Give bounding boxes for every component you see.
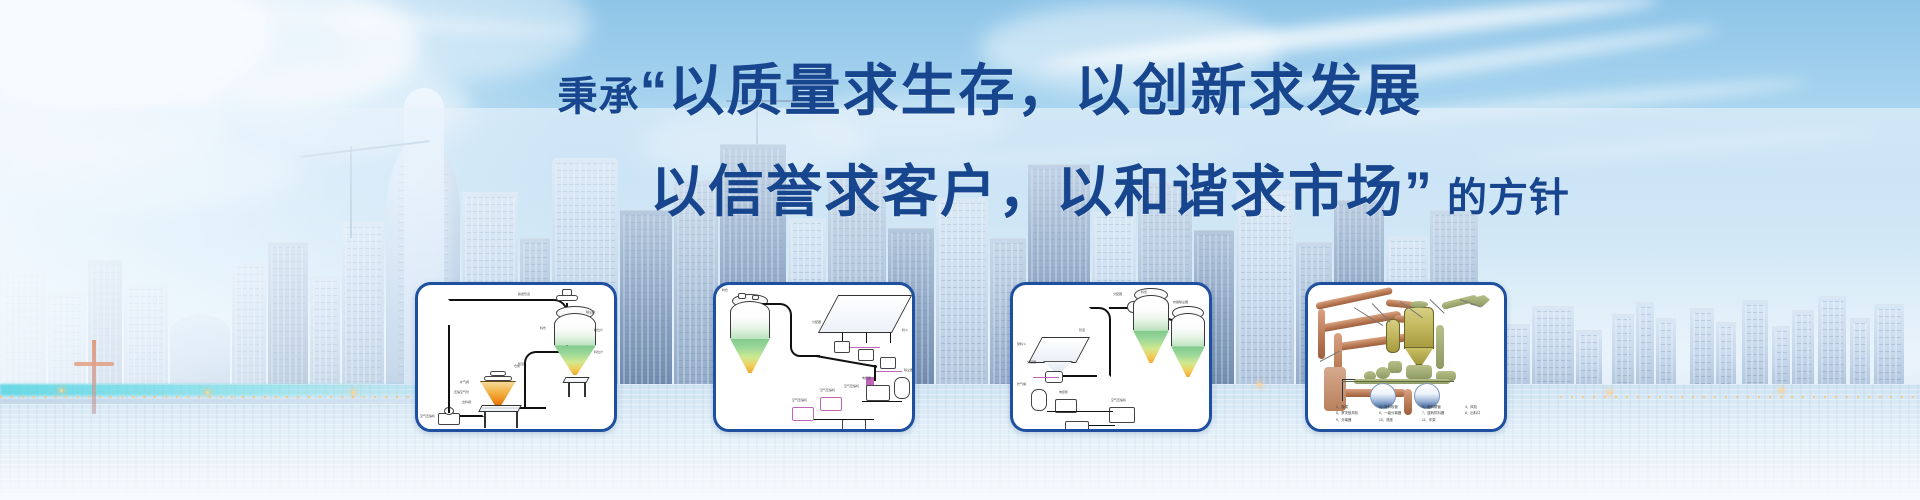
- sailboat-mast: [92, 340, 96, 414]
- close-quote: ”: [1404, 160, 1433, 223]
- card-ship-unloader-diagram[interactable]: 1、吸嘴2、吸料软管3、吸料硬管4、风机5、罗茨鼓风机6、一级分离器7、旋转供料…: [1305, 282, 1507, 432]
- waterfront-promenade-lights: [0, 384, 470, 396]
- headline-line-1: 以质量求生存，以创新求发展: [669, 59, 1423, 122]
- diagram-pneumatic-conveying-3: 受料斗 分配器 管道 分配器 布袋除尘器: [1013, 285, 1209, 429]
- headline-line-2: 以信誉求客户，以和谐求市场: [650, 160, 1404, 223]
- promo-banner: 秉承“以质量求生存，以创新求发展 以信誉求客户，以和谐求市场”的方针: [0, 0, 1920, 500]
- diagram-card-row: 输送管道 除尘器 料位计 料仓 料位计 仓泵 补气阀 压缩空气管 出料阀 空气压…: [415, 282, 1505, 434]
- open-quote: “: [640, 59, 669, 122]
- headline-slogan: 秉承“以质量求生存，以创新求发展 以信誉求客户，以和谐求市场”的方针: [0, 46, 1920, 228]
- headline-prefix: 秉承: [558, 75, 640, 119]
- card-pneumatic-conveying-3[interactable]: 受料斗 分配器 管道 分配器 布袋除尘器: [1010, 282, 1212, 432]
- card-pneumatic-conveying-2[interactable]: 料仓 料斗 分配器: [713, 282, 915, 432]
- card-pneumatic-conveying-1[interactable]: 输送管道 除尘器 料位计 料仓 料位计 仓泵 补气阀 压缩空气管 出料阀 空气压…: [415, 282, 617, 432]
- legend-item: 9、分离器: [1336, 417, 1379, 423]
- headline-suffix: 的方针: [1447, 176, 1570, 220]
- diagram-ship-unloader: 1、吸嘴2、吸料软管3、吸料硬管4、风机5、罗茨鼓风机6、一级分离器7、旋转供料…: [1308, 285, 1504, 429]
- legend-item: 11、车架: [1422, 417, 1465, 423]
- legend-item: 8、出料口: [1465, 410, 1507, 416]
- diagram-pneumatic-conveying-1: 输送管道 除尘器 料位计 料仓 料位计 仓泵 补气阀 压缩空气管 出料阀 空气压…: [418, 285, 614, 429]
- legend-item: 10、底座: [1379, 417, 1422, 423]
- diagram-pneumatic-conveying-2: 料仓 料斗 分配器: [716, 285, 912, 429]
- diagram-legend: 1、吸嘴2、吸料软管3、吸料硬管4、风机5、罗茨鼓风机6、一级分离器7、旋转供料…: [1336, 404, 1507, 423]
